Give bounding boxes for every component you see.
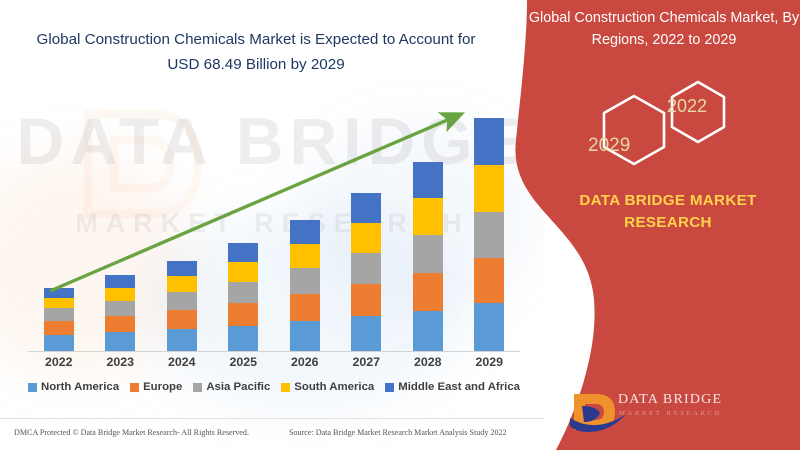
hexagon-2022-label: 2022	[667, 96, 707, 117]
right-brand-panel: Global Construction Chemicals Market, By…	[0, 0, 800, 450]
panel-title: Global Construction Chemicals Market, By…	[528, 8, 800, 52]
brand-name-line1: DATA BRIDGE MARKET	[536, 192, 800, 209]
right-panel-content: Global Construction Chemicals Market, By…	[560, 0, 800, 450]
logo-sub-text: MARKET RESEARCH	[619, 410, 722, 417]
hexagon-2029-label: 2029	[588, 135, 630, 157]
logo-name-text: DATA BRIDGE	[618, 392, 722, 408]
hexagon-pair-icon	[578, 78, 778, 188]
brand-name-line2: RESEARCH	[536, 214, 800, 231]
